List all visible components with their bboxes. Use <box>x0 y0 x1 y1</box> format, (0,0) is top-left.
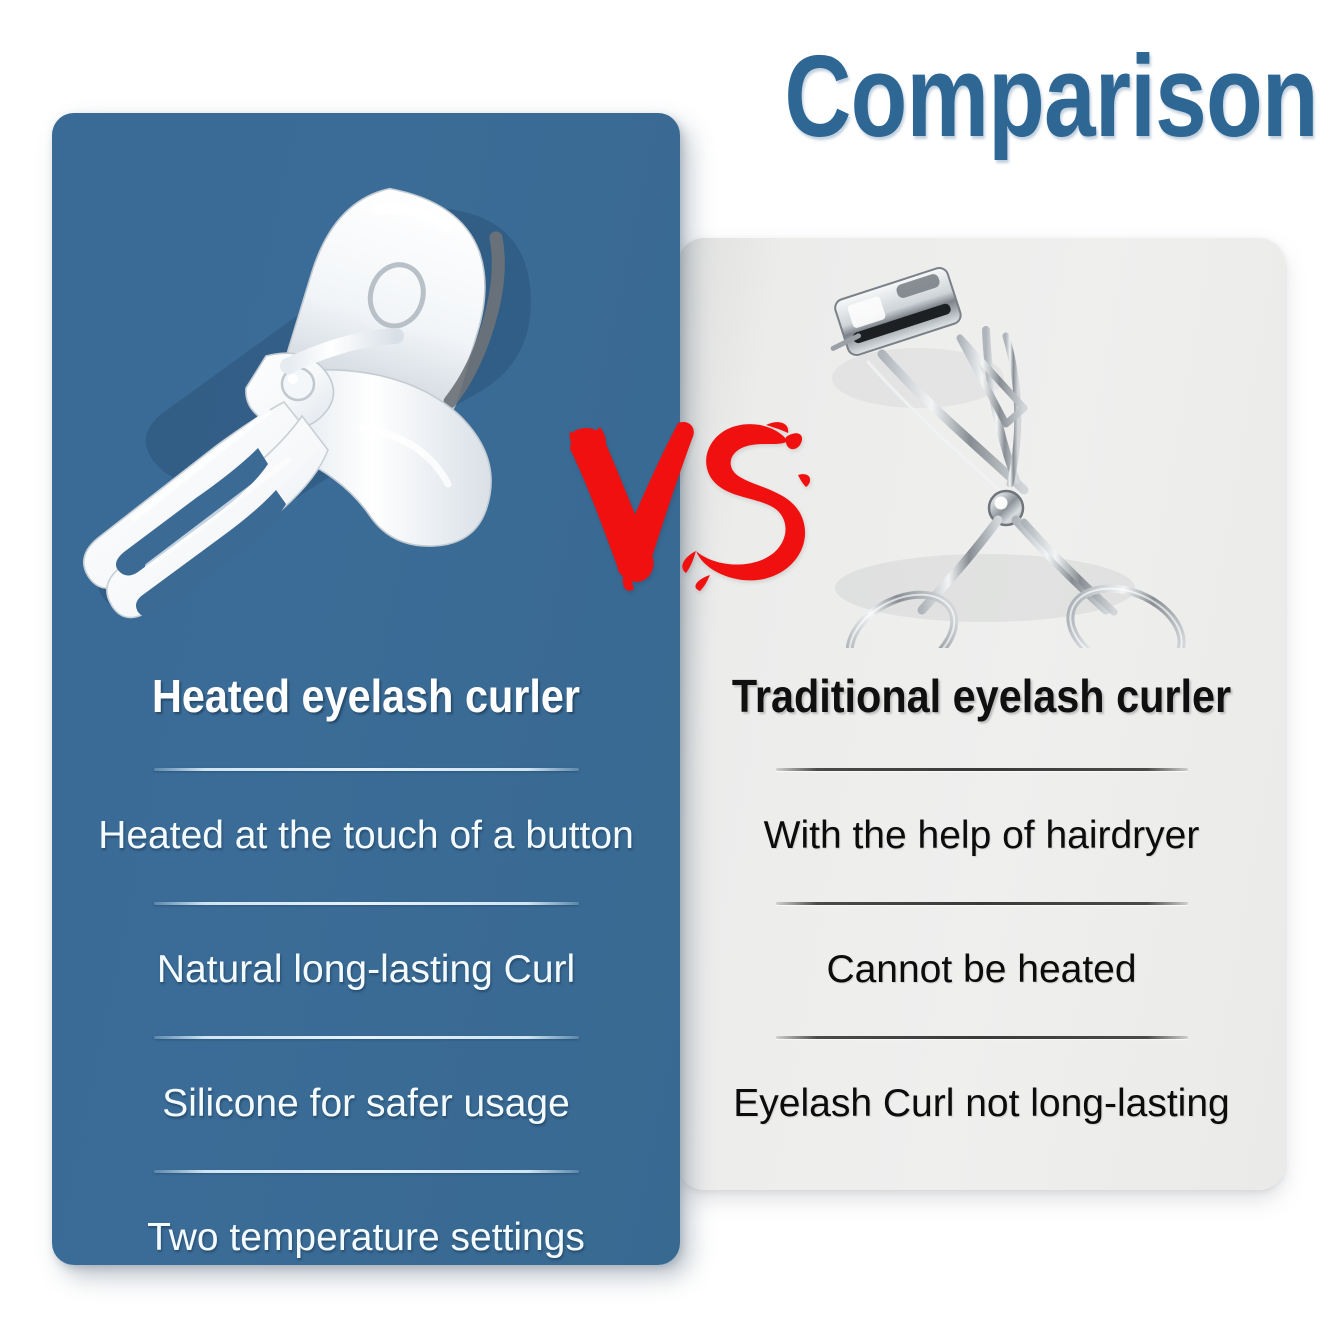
list-item: Two temperature settings <box>52 1217 680 1260</box>
list-item: Cannot be heated <box>678 949 1285 992</box>
list-item: Silicone for safer usage <box>52 1083 680 1126</box>
traditional-feature-list: Traditional eyelash curler With the help… <box>678 672 1285 1126</box>
traditional-eyelash-curler-image <box>810 258 1210 648</box>
traditional-heading: Traditional eyelash curler <box>708 672 1254 720</box>
heated-eyelash-curler-image <box>62 160 632 660</box>
page-title: Comparison <box>785 38 1318 154</box>
heated-heading: Heated eyelash curler <box>83 672 648 720</box>
vs-mark: VS <box>560 415 810 605</box>
list-item: With the help of hairdryer <box>678 815 1285 858</box>
list-item: Heated at the touch of a button <box>52 815 680 858</box>
list-item: Eyelash Curl not long-lasting <box>678 1083 1285 1126</box>
comparison-infographic: Comparison <box>0 0 1340 1340</box>
list-item: Natural long-lasting Curl <box>52 949 680 992</box>
heated-feature-list: Heated eyelash curler Heated at the touc… <box>52 672 680 1260</box>
